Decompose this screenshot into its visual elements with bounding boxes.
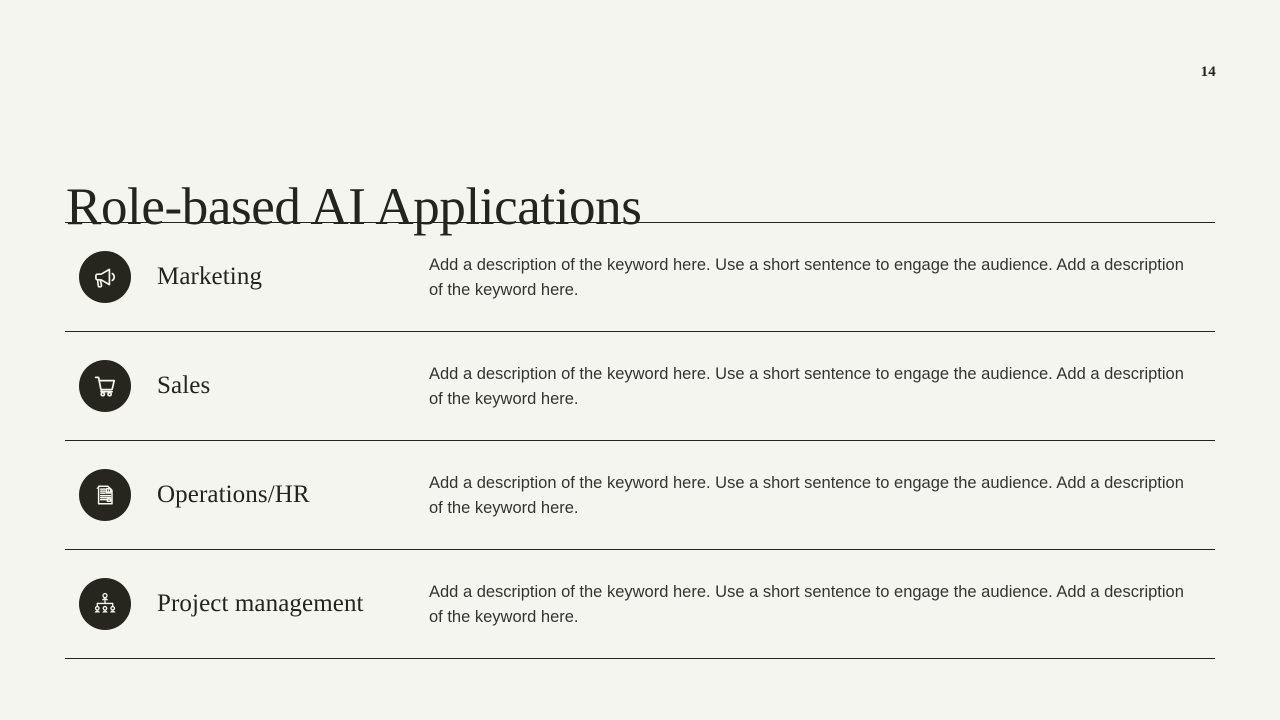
table-row[interactable]: Project management Add a description of … [65, 550, 1215, 658]
row-description: Add a description of the keyword here. U… [429, 223, 1215, 303]
resume-document-icon [79, 469, 131, 521]
row-left-marketing: Marketing [65, 223, 429, 331]
page-number: 14 [1201, 64, 1216, 81]
row-description: Add a description of the keyword here. U… [429, 550, 1215, 630]
row-left-project-management: Project management [65, 550, 429, 658]
row-label: Sales [157, 372, 210, 401]
role-list-table: Marketing Add a description of the keywo… [65, 222, 1215, 659]
row-description: Add a description of the keyword here. U… [429, 332, 1215, 412]
row-label: Operations/HR [157, 481, 310, 510]
org-chart-icon [79, 578, 131, 630]
table-row[interactable]: Sales Add a description of the keyword h… [65, 332, 1215, 440]
table-row[interactable]: Operations/HR Add a description of the k… [65, 441, 1215, 549]
slide: 14 Role-based AI Applications Marketing … [0, 0, 1280, 720]
divider-bottom [65, 658, 1215, 659]
table-row[interactable]: Marketing Add a description of the keywo… [65, 223, 1215, 331]
row-label: Project management [157, 590, 364, 619]
shopping-cart-icon [79, 360, 131, 412]
row-left-sales: Sales [65, 332, 429, 440]
row-description: Add a description of the keyword here. U… [429, 441, 1215, 521]
megaphone-icon [79, 251, 131, 303]
row-label: Marketing [157, 263, 262, 292]
row-left-operations-hr: Operations/HR [65, 441, 429, 549]
